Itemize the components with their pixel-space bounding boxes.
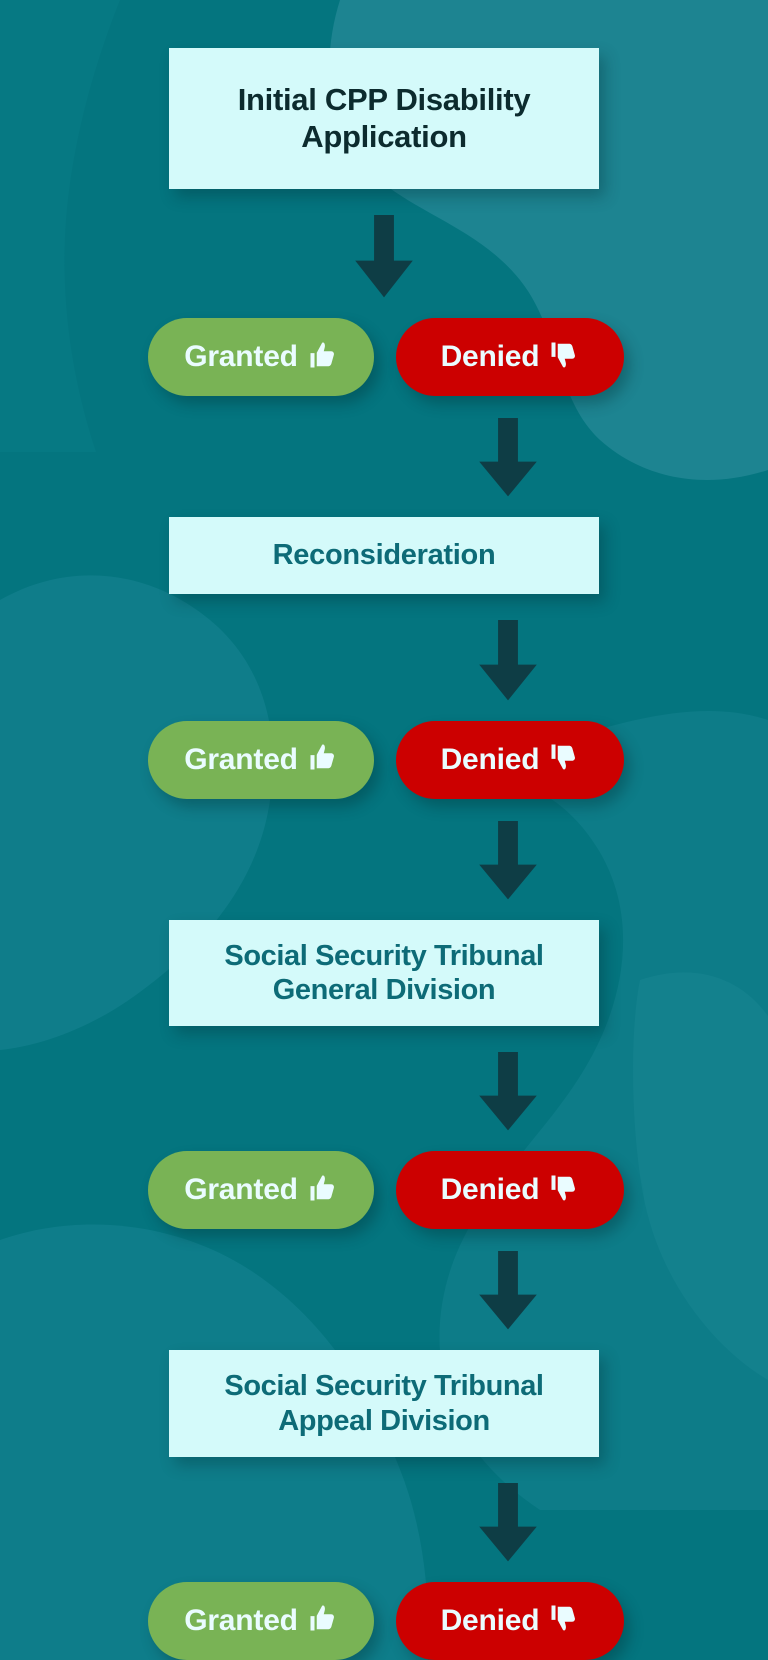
denied-label: Denied xyxy=(441,1173,540,1207)
decision-denied-2[interactable]: Denied xyxy=(396,721,624,799)
thumbs-down-icon xyxy=(549,340,579,375)
denied-label: Denied xyxy=(441,743,540,777)
decision-row-3: Granted Denied xyxy=(0,1151,768,1229)
arrow-down-to-decision-2 xyxy=(477,620,539,701)
decision-row-1: Granted Denied xyxy=(0,318,768,396)
process-box-tribunal-appeal-label: Social Security Tribunal Appeal Division xyxy=(224,1369,543,1437)
process-box-tribunal-appeal-division[interactable]: Social Security Tribunal Appeal Division xyxy=(169,1350,599,1456)
thumbs-down-icon xyxy=(549,742,579,777)
decision-denied-1[interactable]: Denied xyxy=(396,318,624,396)
thumbs-down-icon xyxy=(549,1603,579,1638)
thumbs-up-icon xyxy=(308,1173,338,1208)
process-box-tribunal-general-label: Social Security Tribunal General Divisio… xyxy=(224,939,543,1007)
initial-line-2: Application xyxy=(301,119,466,154)
denied-label: Denied xyxy=(441,340,540,374)
cpp-appeal-flowchart: Initial CPP Disability Application Grant… xyxy=(0,0,768,1660)
decision-granted-3[interactable]: Granted xyxy=(148,1151,374,1229)
process-box-initial-label: Initial CPP Disability Application xyxy=(238,82,531,155)
thumbs-up-icon xyxy=(308,1603,338,1638)
reconsideration-line-1: Reconsideration xyxy=(273,539,496,571)
granted-label: Granted xyxy=(184,743,298,777)
decision-granted-1[interactable]: Granted xyxy=(148,318,374,396)
tribunal-appeal-line-1: Social Security Tribunal xyxy=(224,1370,543,1402)
decision-granted-2[interactable]: Granted xyxy=(148,721,374,799)
process-box-reconsideration-label: Reconsideration xyxy=(273,538,496,572)
decision-row-4: Granted Denied xyxy=(0,1582,768,1660)
thumbs-up-icon xyxy=(308,742,338,777)
tribunal-general-line-1: Social Security Tribunal xyxy=(224,940,543,972)
process-box-tribunal-general-division[interactable]: Social Security Tribunal General Divisio… xyxy=(169,920,599,1026)
tribunal-general-line-2: General Division xyxy=(273,974,495,1006)
process-box-initial-application[interactable]: Initial CPP Disability Application xyxy=(169,48,599,189)
arrow-down-denied-to-tribunal-general xyxy=(477,821,539,900)
decision-denied-3[interactable]: Denied xyxy=(396,1151,624,1229)
tribunal-appeal-line-2: Appeal Division xyxy=(278,1405,490,1437)
decision-denied-4[interactable]: Denied xyxy=(396,1582,624,1660)
arrow-down-denied-to-reconsideration xyxy=(477,418,539,497)
thumbs-down-icon xyxy=(549,1173,579,1208)
arrow-down-denied-to-tribunal-appeal xyxy=(477,1251,539,1330)
decision-row-2: Granted Denied xyxy=(0,721,768,799)
thumbs-up-icon xyxy=(308,340,338,375)
denied-label: Denied xyxy=(441,1604,540,1638)
granted-label: Granted xyxy=(184,340,298,374)
arrow-down-to-decision-1 xyxy=(353,215,415,298)
arrow-down-to-decision-4 xyxy=(477,1483,539,1562)
granted-label: Granted xyxy=(184,1604,298,1638)
process-box-reconsideration[interactable]: Reconsideration xyxy=(169,517,599,594)
decision-granted-4[interactable]: Granted xyxy=(148,1582,374,1660)
granted-label: Granted xyxy=(184,1173,298,1207)
initial-line-1: Initial CPP Disability xyxy=(238,82,531,117)
arrow-down-to-decision-3 xyxy=(477,1052,539,1131)
